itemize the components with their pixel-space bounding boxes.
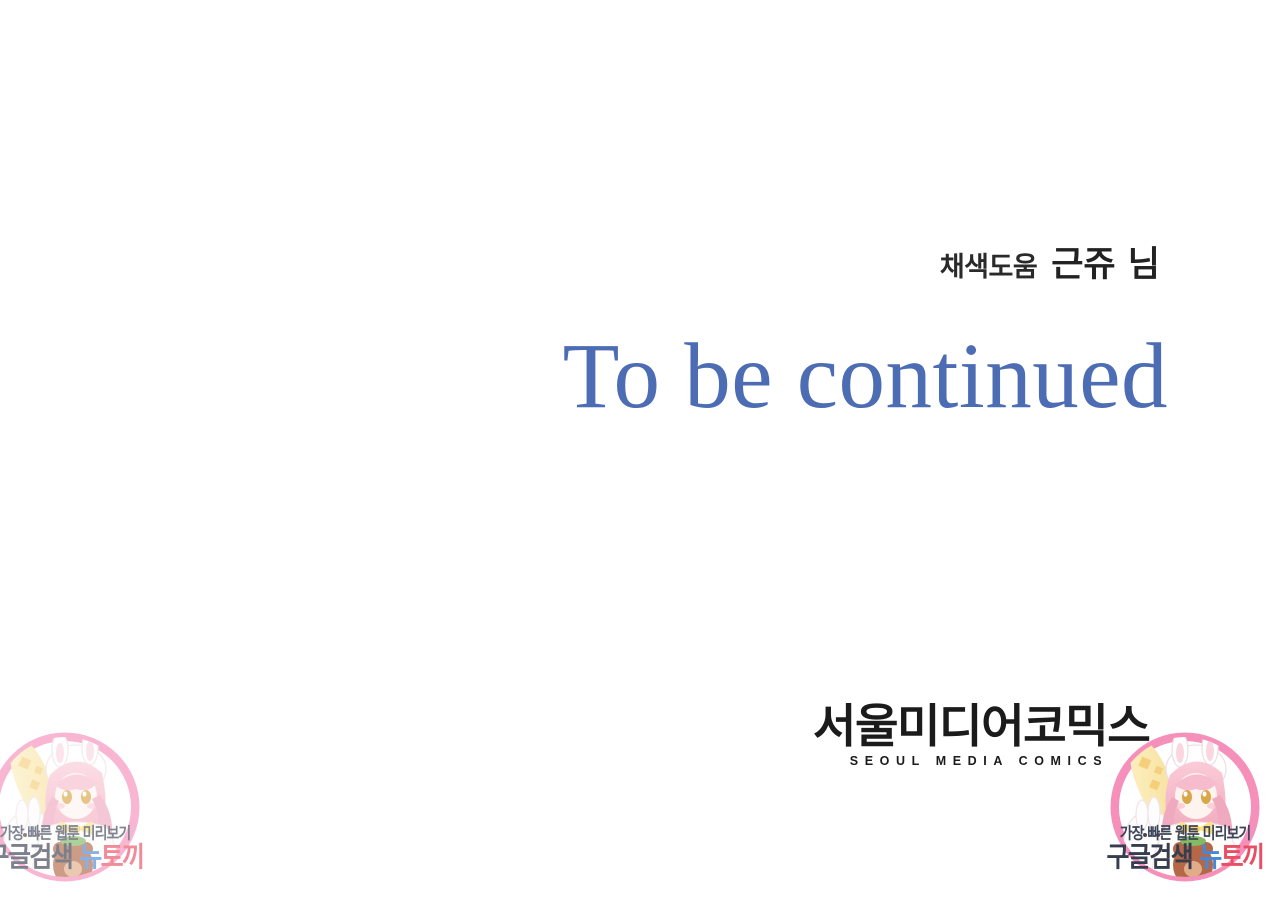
comic-panel: 채색도움근쥬 님 To be continued 서울미디어코믹스 SEOUL … [0, 0, 1280, 897]
credit-role-label: 채색도움 [940, 252, 1037, 283]
to-be-continued-text: To be continued [0, 330, 1168, 423]
watermark-mascot-illustration [0, 723, 158, 897]
watermark-mascot-illustration [1092, 723, 1278, 897]
credit-person-name: 근쥬 님 [1051, 245, 1160, 285]
watermark-bottom-right: 가장 빠른 웹툰 미리보기 구글검색 뉴토끼 [1092, 723, 1278, 897]
watermark-bottom-left: 가장 빠른 웹툰 미리보기 구글검색 뉴토끼 [0, 723, 158, 897]
credit-line: 채색도움근쥬 님 [0, 236, 1160, 287]
